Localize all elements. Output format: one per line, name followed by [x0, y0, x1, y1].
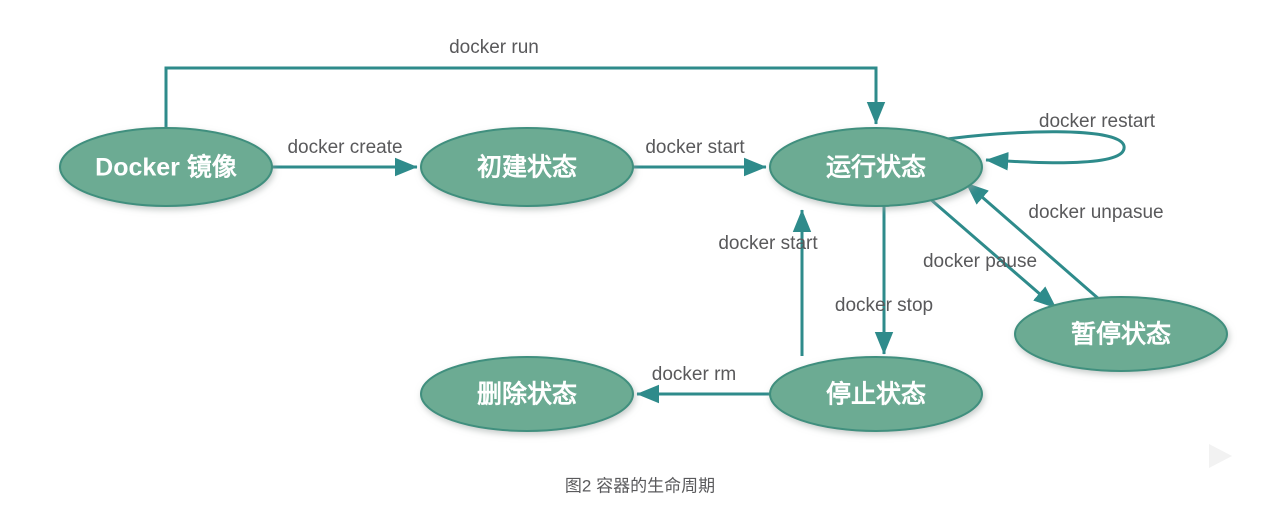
- node-stopped-state[interactable]: 停止状态: [770, 357, 982, 431]
- container-lifecycle-diagram: Docker 镜像 初建状态 运行状态 暂停状态 停止状态 删除状态: [0, 0, 1268, 512]
- edge-label-docker-unpause: docker unpasue: [1028, 202, 1163, 223]
- nodes-layer: Docker 镜像 初建状态 运行状态 暂停状态 停止状态 删除状态: [60, 128, 1227, 431]
- node-paused-state[interactable]: 暂停状态: [1015, 297, 1227, 371]
- edge-label-docker-start-stopped: docker start: [718, 233, 818, 254]
- edge-label-docker-restart: docker restart: [1039, 111, 1156, 132]
- node-running-state[interactable]: 运行状态: [770, 128, 982, 206]
- figure-caption: 图2 容器的生命周期: [565, 476, 715, 495]
- node-label-running-state: 运行状态: [826, 154, 926, 182]
- edge-label-docker-stop: docker stop: [835, 295, 933, 316]
- diagram-canvas: Docker 镜像 初建状态 运行状态 暂停状态 停止状态 删除状态: [0, 0, 1268, 512]
- node-created-state[interactable]: 初建状态: [421, 128, 633, 206]
- edge-docker-unpause: [966, 183, 1100, 300]
- node-label-stopped-state: 停止状态: [826, 380, 926, 409]
- edge-label-docker-create: docker create: [287, 137, 402, 158]
- node-docker-image[interactable]: Docker 镜像: [60, 128, 272, 206]
- node-removed-state[interactable]: 删除状态: [421, 357, 633, 431]
- node-label-removed-state: 删除状态: [477, 380, 577, 409]
- edge-label-docker-pause: docker pause: [923, 251, 1037, 272]
- node-label-docker-image: Docker 镜像: [95, 153, 237, 182]
- node-label-paused-state: 暂停状态: [1071, 320, 1171, 349]
- edge-label-docker-rm: docker rm: [652, 364, 736, 385]
- tv-play-logo-icon: [1182, 419, 1252, 484]
- edge-label-docker-run: docker run: [449, 37, 539, 58]
- edges-layer: [166, 68, 1124, 394]
- edge-docker-run: [166, 68, 876, 128]
- node-label-created-state: 初建状态: [477, 154, 577, 182]
- edge-label-docker-start-created: docker start: [645, 137, 745, 158]
